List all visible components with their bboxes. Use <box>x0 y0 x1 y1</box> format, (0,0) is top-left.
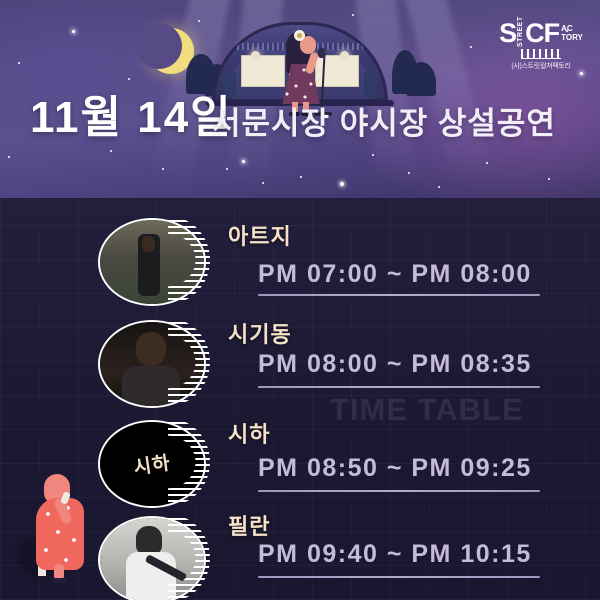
scf-logo: S STREET CF AC TORY (사)스트릿컬쳐팩토리 <box>494 20 588 71</box>
artist-name: 아트지 <box>228 226 292 248</box>
logo-letter-s: S <box>499 20 516 47</box>
header-sky-background: S STREET CF AC TORY (사)스트릿컬쳐팩토리 11월 14일 … <box>0 0 600 198</box>
page-title-subtitle: 서문시장 야시장 상설공연 <box>212 108 556 139</box>
artist-name: 필란 <box>228 516 270 538</box>
logo-actory-text: AC TORY <box>561 25 583 42</box>
table-row[interactable]: 아트지 PM 07:00 ~ PM 08:00 <box>0 210 600 310</box>
performance-time: PM 09:40 ~ PM 10:15 <box>258 542 532 567</box>
event-poster: S STREET CF AC TORY (사)스트릿컬쳐팩토리 11월 14일 … <box>0 0 600 600</box>
row-divider <box>258 386 540 388</box>
row-divider <box>258 576 540 578</box>
performance-time: PM 07:00 ~ PM 08:00 <box>258 262 532 287</box>
table-row[interactable]: 시기동 PM 08:00 ~ PM 08:35 <box>0 312 600 412</box>
performance-time: PM 08:50 ~ PM 09:25 <box>258 456 532 481</box>
logo-letters-cf: CF <box>525 20 559 47</box>
logo-street-text: STREET <box>517 21 524 47</box>
logo-wave-icon <box>521 49 561 59</box>
logo-korean-name: (사)스트릿컬쳐팩토리 <box>494 61 588 71</box>
artist-name: 시기동 <box>228 324 292 346</box>
row-divider <box>258 294 540 296</box>
artist-name: 시하 <box>228 424 270 446</box>
row-divider <box>258 490 540 492</box>
logo-tory-line: TORY <box>561 33 583 42</box>
page-title-date: 11월 14일 <box>30 96 233 140</box>
bush-icon <box>406 62 436 96</box>
singer-with-microphone-icon <box>272 28 328 108</box>
performance-time: PM 08:00 ~ PM 08:35 <box>258 352 532 377</box>
seated-singer-illustration <box>18 468 96 586</box>
